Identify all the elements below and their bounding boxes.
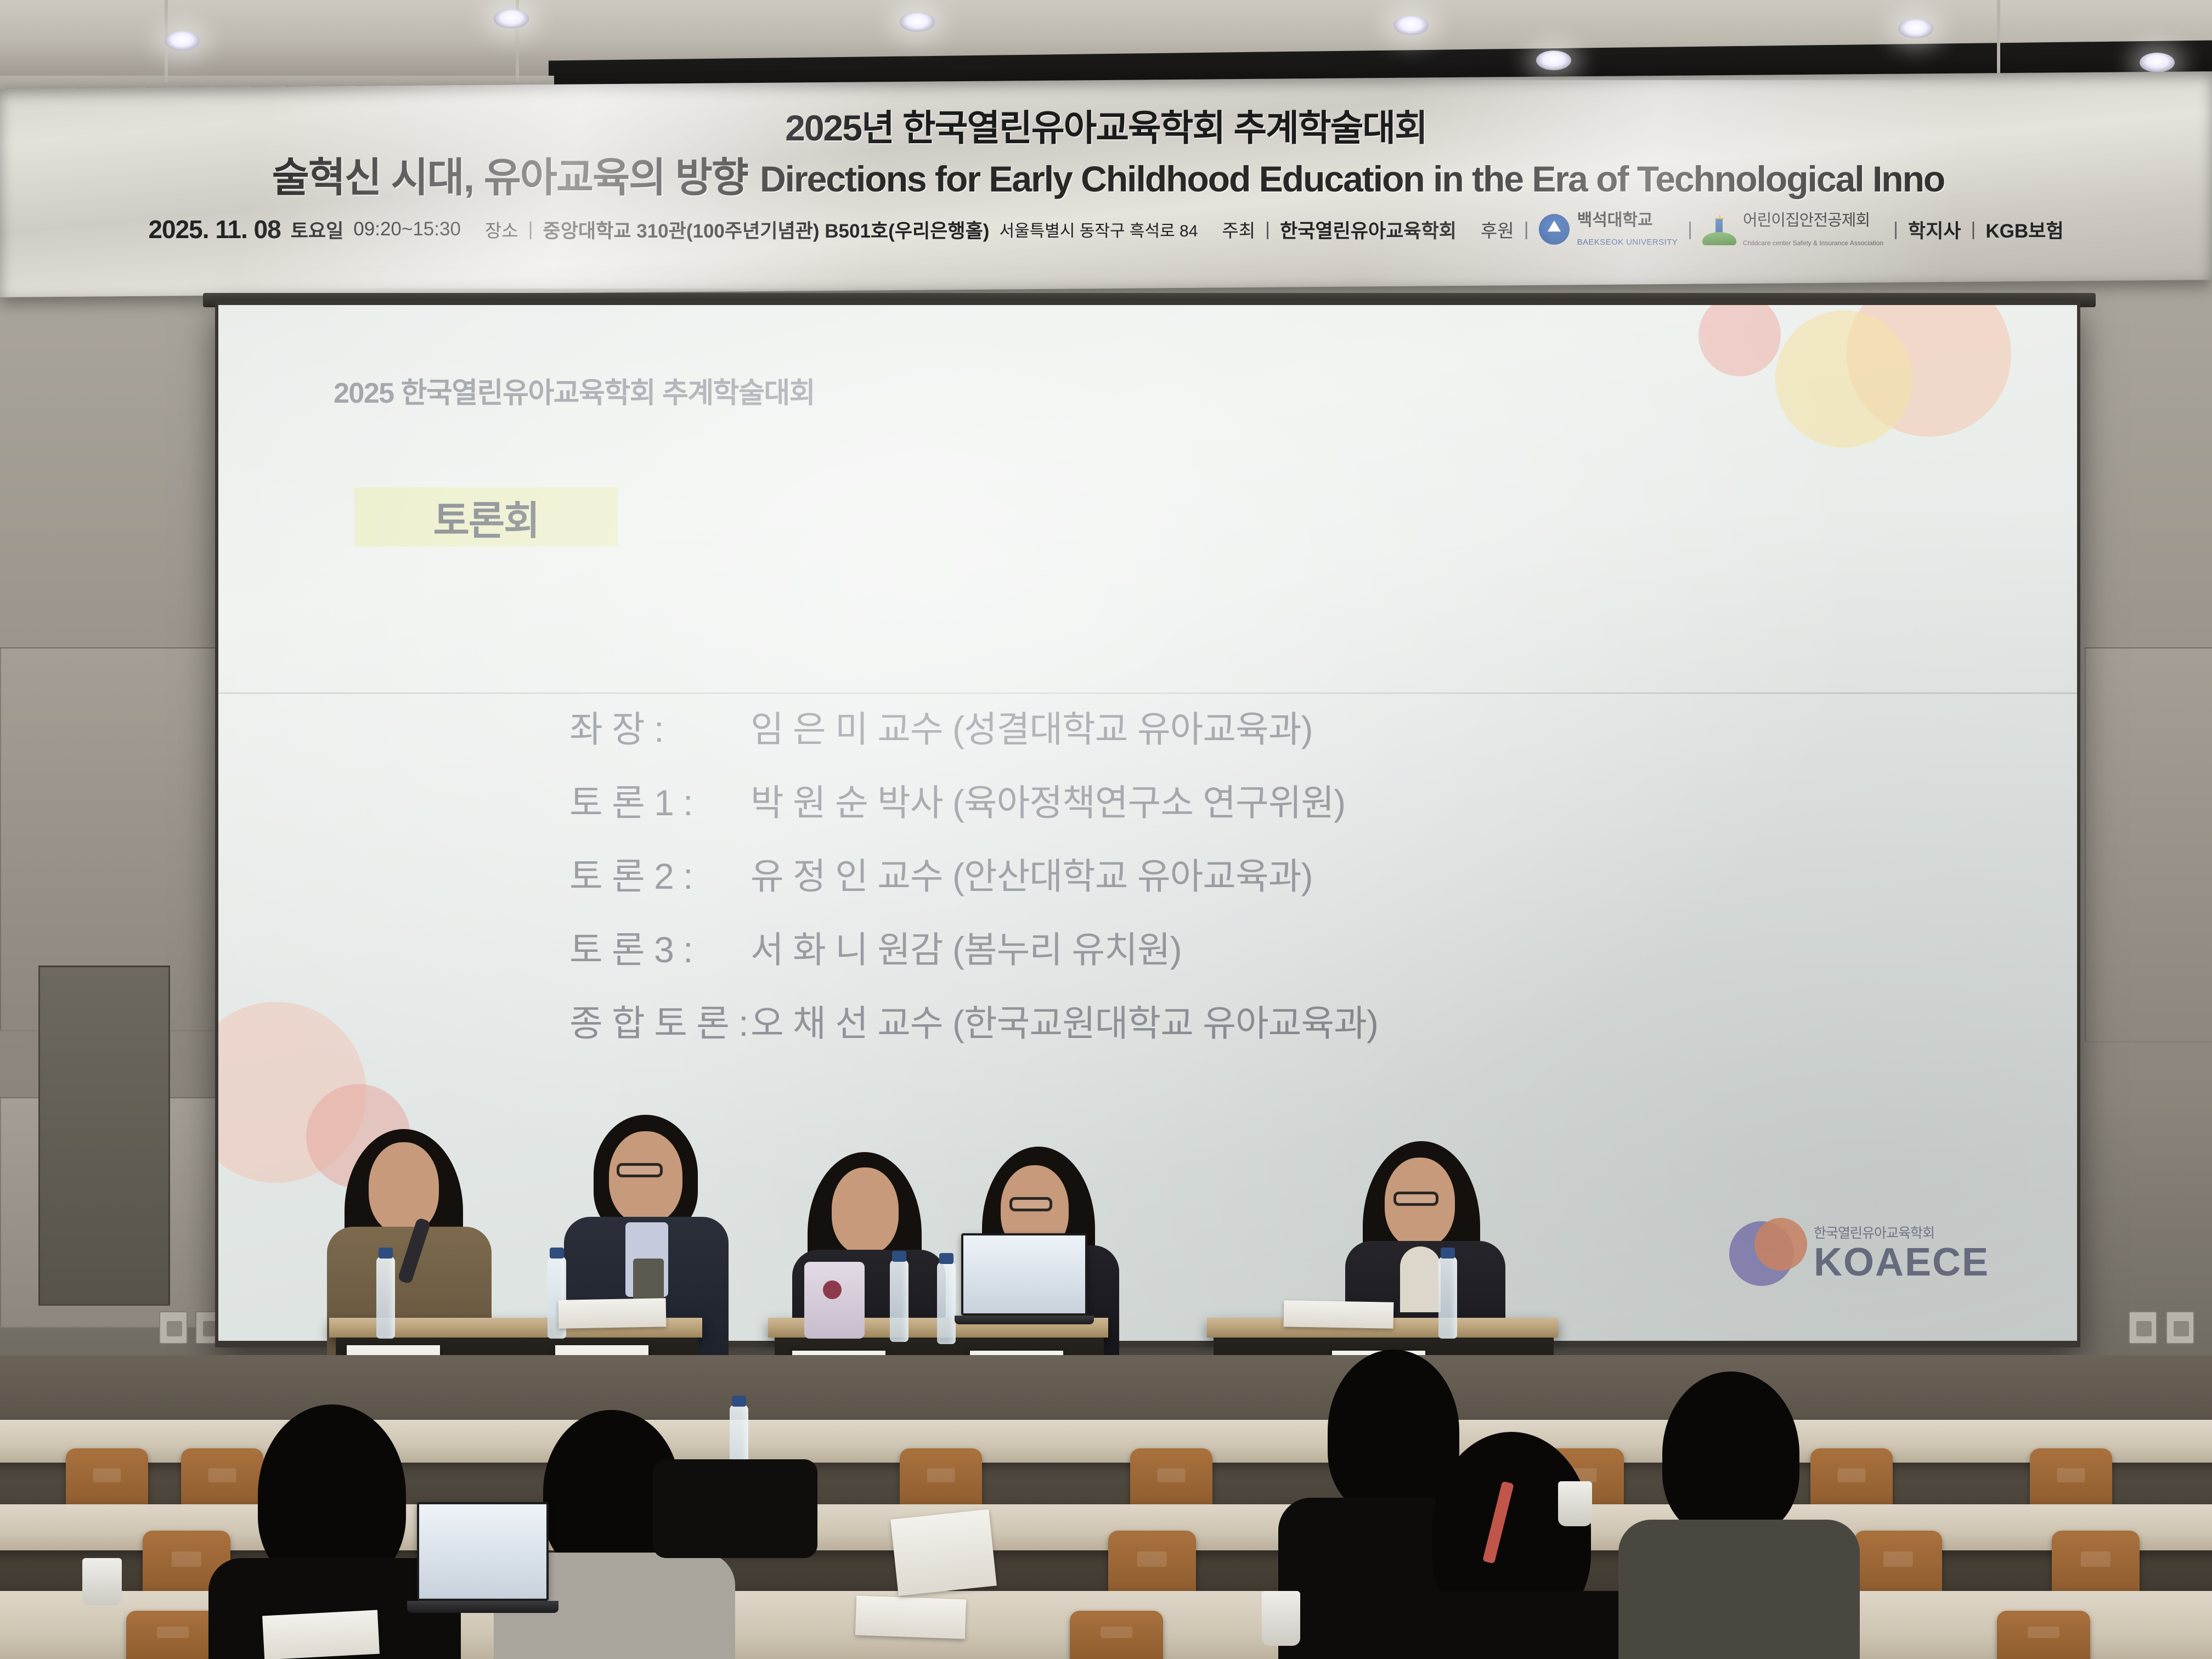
wall-outlet bbox=[159, 1311, 188, 1344]
slide-line-role: 토 론 3 : bbox=[569, 921, 751, 973]
water-bottle bbox=[376, 1256, 395, 1339]
water-bottle bbox=[937, 1262, 956, 1344]
ceiling-downlight bbox=[900, 12, 935, 32]
attendee-laptop-screen[interactable] bbox=[417, 1502, 549, 1601]
ceiling-downlight bbox=[1393, 15, 1429, 35]
event-banner: 2025년 한국열린유아교육학회 추계학술대회 술혁신 시대, 유아교육의 방향… bbox=[0, 71, 2212, 297]
baekseok-name-en: BAEKSEOK UNIVERSITY bbox=[1577, 238, 1678, 247]
koaece-logo: 한국열린유아교육학회 KOAECE bbox=[1729, 1218, 1989, 1290]
conference-hall-photo: 2025년 한국열린유아교육학회 추계학술대회 술혁신 시대, 유아교육의 방향… bbox=[0, 0, 2212, 1659]
pouch-emblem bbox=[823, 1280, 842, 1299]
koaece-korean-name: 한국열린유아교육학회 bbox=[1814, 1227, 1989, 1240]
projection-screen: 2025 한국열린유아교육학회 추계학술대회 토론회 좌 장 : 임 은 미 교… bbox=[218, 305, 2077, 1341]
slide-line-value: 임 은 미 교수 (성결대학교 유아교육과) bbox=[751, 700, 1312, 753]
water-bottle bbox=[1438, 1256, 1457, 1339]
host-divider: | bbox=[1265, 219, 1270, 240]
audience-chair bbox=[1070, 1611, 1163, 1659]
childcare-name-en: Childcare center Safety & Insurance Asso… bbox=[1743, 239, 1883, 247]
audience-chair bbox=[1854, 1531, 1942, 1600]
coffee-cup bbox=[82, 1558, 122, 1605]
screen-seam bbox=[218, 692, 2077, 694]
host-value: 한국열린유아교육학회 bbox=[1280, 216, 1457, 244]
slide-section-label: 토론회 bbox=[433, 488, 539, 546]
sponsor-logo-childcare: ★ 어린이집안전공제회 Childcare center Safety & In… bbox=[1702, 210, 1883, 249]
sponsor-divider: | bbox=[1971, 219, 1976, 240]
audience-chair bbox=[2052, 1531, 2140, 1600]
host-label: 주최 bbox=[1222, 216, 1255, 242]
childcare-name-ko: 어린이집안전공제회 bbox=[1743, 212, 1870, 229]
childcare-tower-icon: ★ bbox=[1702, 213, 1736, 245]
banner-meta-row: 2025. 11. 08 토요일 09:20~15:30 장소 | 중앙대학교 … bbox=[0, 210, 2212, 249]
banner-subtitle-english: Directions for Early Childhood Education… bbox=[760, 158, 1944, 200]
wall-outlet bbox=[2166, 1311, 2194, 1344]
ceiling-rail bbox=[1997, 0, 2000, 82]
wall-panel bbox=[2085, 647, 2212, 1042]
slide-line: 토 론 1 : 박 원 순 박사 (육아정책연구소 연구위원) bbox=[569, 774, 2051, 826]
banner-subtitle: 술혁신 시대, 유아교육의 방향 Directions for Early Ch… bbox=[0, 145, 2212, 204]
sponsor-divider: | bbox=[1524, 219, 1529, 240]
sponsor-kgb: KGB보험 bbox=[1985, 216, 2063, 244]
backpack bbox=[653, 1459, 817, 1558]
slide-line-value: 오 채 선 교수 (한국교원대학교 유아교육과) bbox=[751, 994, 1378, 1047]
slide-section-chip: 토론회 bbox=[354, 487, 618, 546]
slide-line-value: 유 정 인 교수 (안산대학교 유아교육과) bbox=[751, 847, 1312, 900]
water-cup bbox=[1558, 1481, 1592, 1526]
eyeglasses-icon bbox=[617, 1163, 663, 1177]
slide-line: 종 합 토 론 : 오 채 선 교수 (한국교원대학교 유아교육과) bbox=[569, 994, 2051, 1047]
open-notebook bbox=[1284, 1300, 1394, 1328]
water-cup bbox=[1262, 1591, 1300, 1646]
eyeglasses-icon bbox=[1009, 1197, 1052, 1211]
venue-label: 장소 bbox=[485, 216, 518, 242]
venue-value: 중앙대학교 310관(100주년기념관) B501호(우리은행홀) bbox=[543, 216, 990, 244]
koaece-acronym: KOAECE bbox=[1814, 1240, 1989, 1284]
tissue-box bbox=[804, 1262, 865, 1339]
slide-line-value: 박 원 순 박사 (육아정책연구소 연구위원) bbox=[751, 774, 1345, 826]
baekseok-shield-icon bbox=[1539, 214, 1570, 245]
slide-body: 좌 장 : 임 은 미 교수 (성결대학교 유아교육과) 토 론 1 : 박 원… bbox=[569, 700, 2051, 1047]
slide-decoration-blob bbox=[1775, 311, 1912, 448]
sponsor-divider: | bbox=[1893, 219, 1898, 240]
audience-chair bbox=[1108, 1531, 1196, 1600]
slide-line-role: 종 합 토 론 : bbox=[569, 994, 751, 1047]
venue-address: 서울특별시 동작구 흑석로 84 bbox=[999, 217, 1198, 241]
eyeglasses-icon bbox=[1393, 1192, 1438, 1206]
panelist-laptop-base bbox=[955, 1316, 1094, 1324]
ceiling-downlight bbox=[2140, 53, 2175, 72]
audience-chair bbox=[1997, 1611, 2090, 1659]
handout-paper bbox=[855, 1596, 966, 1639]
banner-date: 2025. 11. 08 bbox=[148, 215, 280, 244]
banner-time: 09:20~15:30 bbox=[353, 218, 461, 240]
slide-line-role: 토 론 2 : bbox=[569, 847, 751, 900]
handout-paper bbox=[262, 1610, 380, 1659]
banner-subtitle-korean: 술혁신 시대, 유아교육의 방향 bbox=[272, 145, 748, 204]
slide-line-value: 서 화 니 원감 (봄누리 유치원) bbox=[751, 921, 1182, 973]
venue-divider: | bbox=[528, 219, 533, 240]
wall-outlet bbox=[2129, 1311, 2157, 1344]
ceiling-downlight bbox=[1898, 19, 1933, 38]
baekseok-name-ko: 백석대학교 bbox=[1577, 211, 1653, 229]
side-door bbox=[38, 966, 170, 1306]
audience-chair bbox=[126, 1611, 219, 1659]
sponsor-divider: | bbox=[1688, 219, 1692, 240]
water-bottle bbox=[890, 1260, 909, 1342]
banner-day: 토요일 bbox=[291, 216, 344, 244]
slide-header: 2025 한국열린유아교육학회 추계학술대회 bbox=[334, 370, 815, 411]
ceiling-downlight bbox=[494, 9, 529, 29]
attendee-laptop-base[interactable] bbox=[407, 1601, 558, 1613]
slide-line-role: 좌 장 : bbox=[569, 700, 751, 753]
slide-line: 좌 장 : 임 은 미 교수 (성결대학교 유아교육과) bbox=[569, 700, 2051, 753]
slide-line: 토 론 2 : 유 정 인 교수 (안산대학교 유아교육과) bbox=[569, 847, 2051, 900]
banner-title: 2025년 한국열린유아교육학회 추계학술대회 bbox=[0, 99, 2212, 151]
slide-decoration-blob bbox=[1699, 305, 1781, 376]
handout-paper bbox=[890, 1509, 997, 1596]
ceiling-downlight bbox=[165, 31, 200, 50]
slide-line: 토 론 3 : 서 화 니 원감 (봄누리 유치원) bbox=[569, 921, 2051, 973]
ceiling-downlight bbox=[1536, 50, 1571, 70]
panelist-laptop-screen bbox=[961, 1233, 1087, 1316]
sponsor-logo-baekseok: 백석대학교 BAEKSEOK UNIVERSITY bbox=[1539, 210, 1678, 249]
open-notebook bbox=[558, 1298, 667, 1328]
sponsor-label: 후원 bbox=[1481, 216, 1514, 242]
sponsor-hakjisa: 학지사 bbox=[1908, 216, 1961, 244]
koaece-circles-icon bbox=[1729, 1218, 1802, 1290]
slide-line-role: 토 론 1 : bbox=[569, 774, 751, 826]
